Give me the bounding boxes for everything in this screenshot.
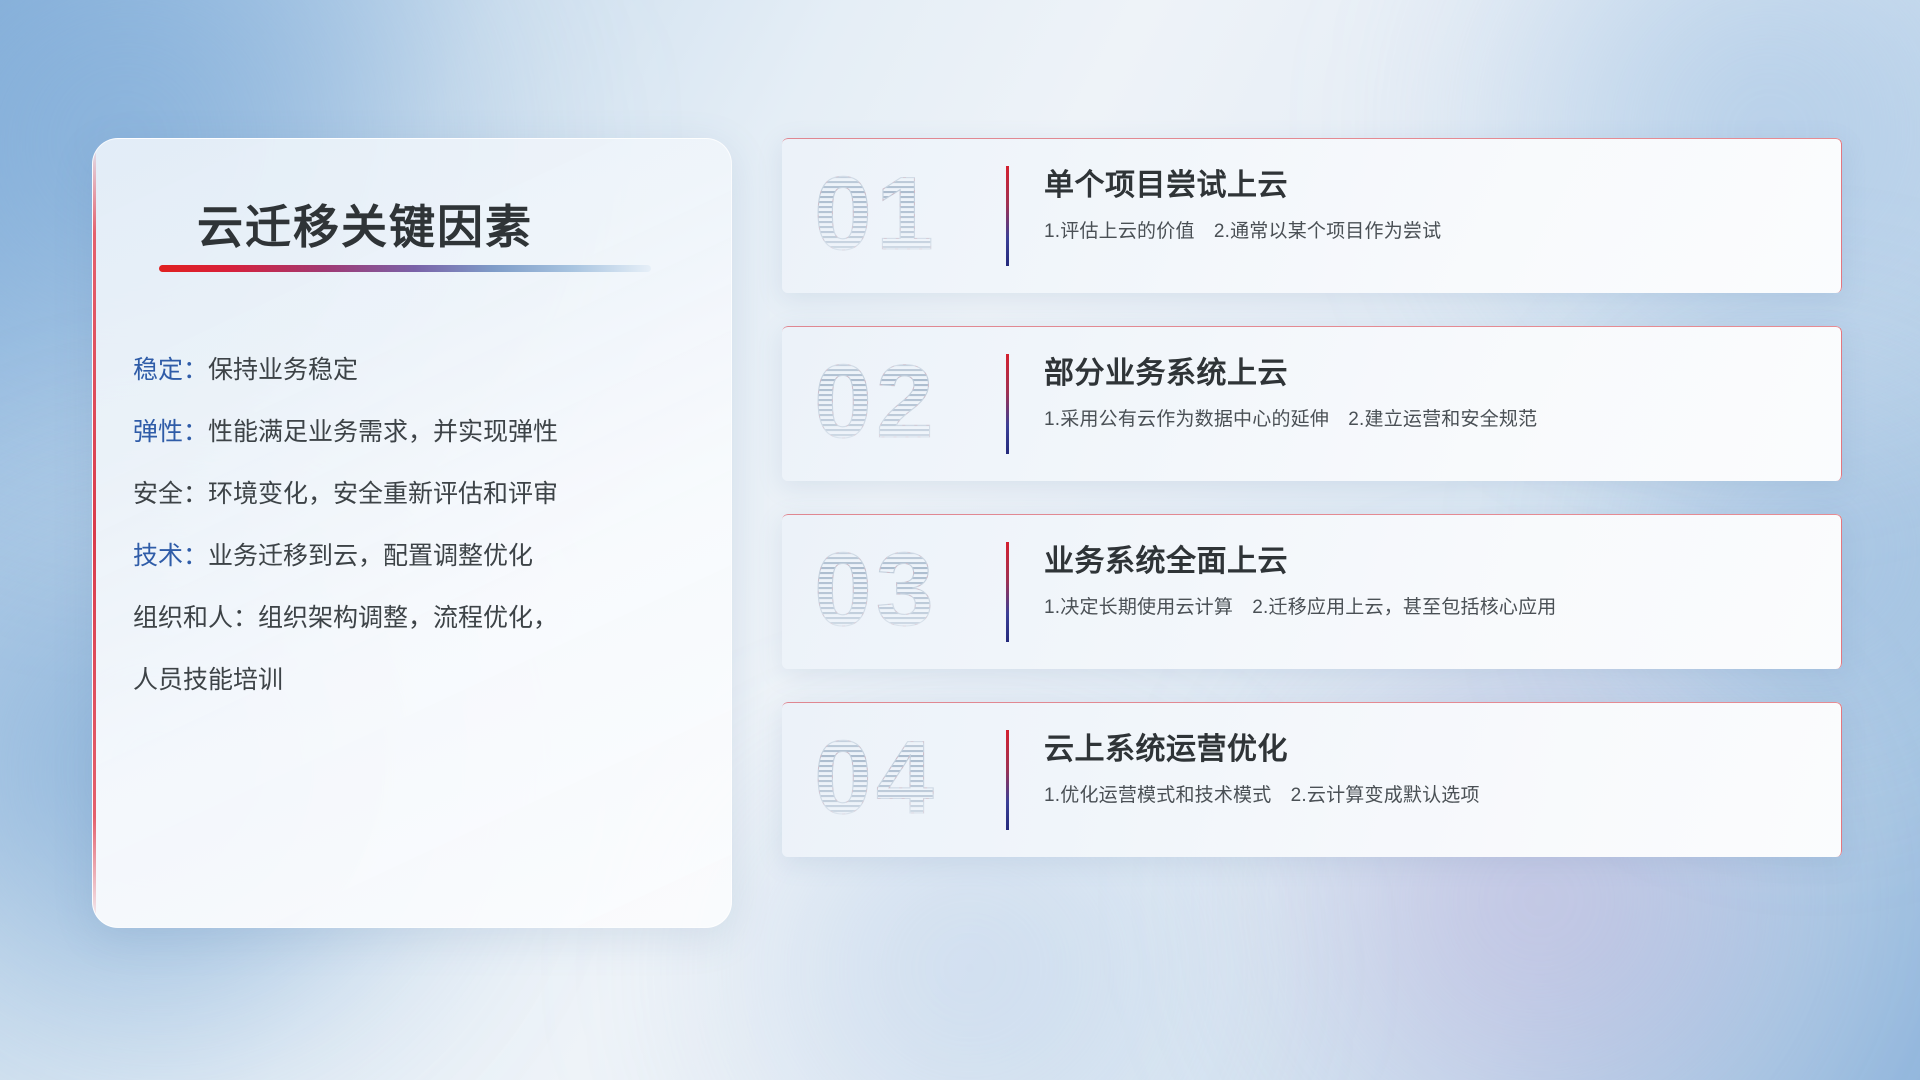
key-factor-text: 业务迁移到云，配置调整优化 — [208, 542, 533, 570]
maturity-stage-card[interactable]: 01 01 单个项目尝试上云1.评估上云的价值 2.通常以某个项目作为尝试 — [782, 138, 1842, 293]
stage-divider-bar — [1006, 730, 1009, 830]
stage-title: 单个项目尝试上云 — [1044, 168, 1818, 204]
key-factor-label: 组织和人： — [133, 604, 258, 632]
stage-card-body: 业务系统全面上云1.决定长期使用云计算 2.迁移应用上云，甚至包括核心应用 — [1044, 544, 1818, 621]
stage-number-watermark: 04 04 — [812, 725, 1002, 835]
stage-card-body: 部分业务系统上云1.采用公有云作为数据中心的延伸 2.建立运营和安全规范 — [1044, 356, 1818, 433]
key-factor-row: 人员技能培训 — [133, 649, 711, 711]
key-factor-row: 组织和人：组织架构调整，流程优化， — [133, 587, 711, 649]
key-factor-label: 弹性： — [133, 418, 208, 446]
key-factor-label: 稳定： — [133, 356, 208, 384]
page-title: 云迁移关键因素 — [197, 191, 533, 257]
stage-description: 1.优化运营模式和技术模式 2.云计算变成默认选项 — [1044, 784, 1818, 809]
stage-card-body: 云上系统运营优化1.优化运营模式和技术模式 2.云计算变成默认选项 — [1044, 732, 1818, 809]
stage-title: 云上系统运营优化 — [1044, 732, 1818, 768]
title-underline-gradient — [159, 265, 651, 272]
slide-canvas: 云迁移关键因素 稳定：保持业务稳定弹性：性能满足业务需求，并实现弹性安全：环境变… — [0, 0, 1920, 1080]
maturity-stage-card[interactable]: 03 03 业务系统全面上云1.决定长期使用云计算 2.迁移应用上云，甚至包括核… — [782, 514, 1842, 669]
stage-title: 部分业务系统上云 — [1044, 356, 1818, 392]
stage-description: 1.决定长期使用云计算 2.迁移应用上云，甚至包括核心应用 — [1044, 596, 1818, 621]
stage-divider-bar — [1006, 542, 1009, 642]
key-factor-row: 稳定：保持业务稳定 — [133, 339, 711, 401]
key-factor-row: 弹性：性能满足业务需求，并实现弹性 — [133, 401, 711, 463]
key-factor-text: 人员技能培训 — [133, 666, 283, 694]
svg-text:04: 04 — [814, 725, 938, 835]
maturity-stage-card-list: 01 01 单个项目尝试上云1.评估上云的价值 2.通常以某个项目作为尝试 02 — [782, 138, 1842, 890]
key-factors-panel: 云迁移关键因素 稳定：保持业务稳定弹性：性能满足业务需求，并实现弹性安全：环境变… — [92, 138, 732, 928]
key-factor-text: 性能满足业务需求，并实现弹性 — [208, 418, 558, 446]
stage-number-watermark: 01 01 — [812, 161, 1002, 271]
stage-description: 1.采用公有云作为数据中心的延伸 2.建立运营和安全规范 — [1044, 408, 1818, 433]
maturity-stage-card[interactable]: 04 04 云上系统运营优化1.优化运营模式和技术模式 2.云计算变成默认选项 — [782, 702, 1842, 857]
key-factor-row: 安全：环境变化，安全重新评估和评审 — [133, 463, 711, 525]
key-factor-text: 保持业务稳定 — [208, 356, 358, 384]
svg-text:03: 03 — [814, 537, 938, 647]
stage-divider-bar — [1006, 354, 1009, 454]
maturity-stage-card[interactable]: 02 02 部分业务系统上云1.采用公有云作为数据中心的延伸 2.建立运营和安全… — [782, 326, 1842, 481]
stage-number-watermark: 02 02 — [812, 349, 1002, 459]
stage-number-watermark: 03 03 — [812, 537, 1002, 647]
key-factor-label: 技术： — [133, 542, 208, 570]
key-factor-text: 环境变化，安全重新评估和评审 — [208, 480, 558, 508]
stage-divider-bar — [1006, 166, 1009, 266]
stage-title: 业务系统全面上云 — [1044, 544, 1818, 580]
stage-description: 1.评估上云的价值 2.通常以某个项目作为尝试 — [1044, 220, 1818, 245]
stage-card-body: 单个项目尝试上云1.评估上云的价值 2.通常以某个项目作为尝试 — [1044, 168, 1818, 245]
key-factor-row: 技术：业务迁移到云，配置调整优化 — [133, 525, 711, 587]
key-factor-label: 安全： — [133, 480, 208, 508]
svg-text:02: 02 — [814, 349, 938, 459]
key-factor-text: 组织架构调整，流程优化， — [258, 604, 558, 632]
key-factors-list: 稳定：保持业务稳定弹性：性能满足业务需求，并实现弹性安全：环境变化，安全重新评估… — [133, 339, 711, 711]
svg-text:01: 01 — [814, 161, 938, 271]
